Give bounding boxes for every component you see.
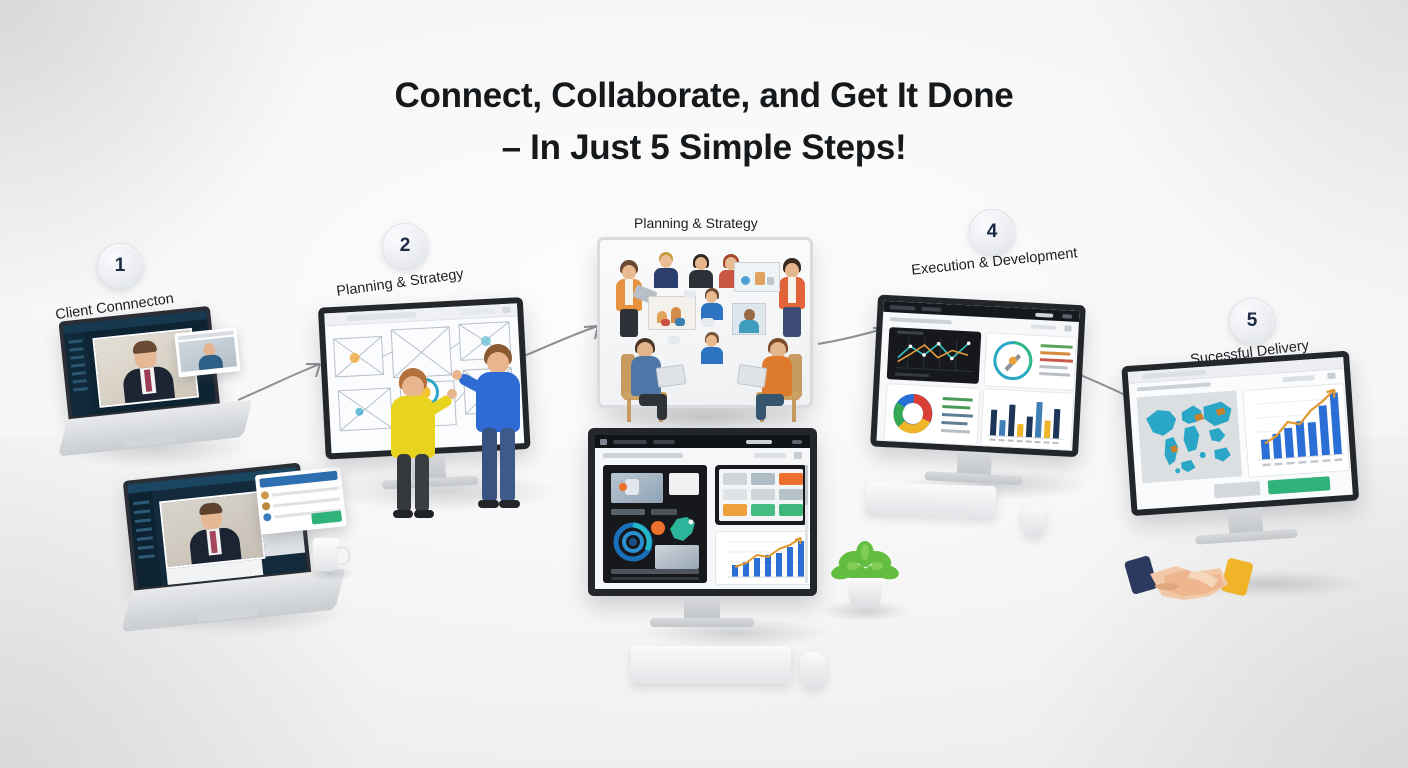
chart-shape — [741, 276, 750, 285]
toolbar-icon[interactable] — [1062, 314, 1072, 319]
view-toggle-icon[interactable] — [1327, 373, 1335, 380]
secondary-action-button[interactable] — [1214, 481, 1261, 498]
monitor-screen — [595, 435, 810, 589]
step-badge-2-number: 2 — [400, 235, 411, 257]
headline-line-1: Connect, Collaborate, and Get It Done — [0, 74, 1408, 118]
execution-trend-chart-card — [887, 327, 982, 384]
person-legs — [657, 400, 667, 420]
step-badge-5-number: 5 — [1247, 310, 1258, 332]
plant-pot — [845, 578, 885, 606]
footer-text — [611, 569, 699, 574]
video-tile-primary — [159, 491, 266, 569]
insight-label-card — [669, 473, 699, 495]
chart-shape — [675, 318, 685, 326]
keyboard-center[interactable] — [631, 646, 791, 684]
filter-control[interactable] — [1282, 375, 1314, 382]
highlight-dot — [651, 521, 665, 535]
avatar-head — [622, 265, 636, 280]
monitor-neck — [684, 596, 720, 620]
browser-menu-icon[interactable] — [502, 307, 510, 313]
person-yellow-shirt — [385, 368, 443, 520]
person-hand — [447, 389, 457, 399]
legend-row — [1041, 344, 1073, 349]
chart-shape — [661, 319, 670, 326]
nav-item[interactable] — [613, 440, 647, 444]
video-call-laptop-top — [50, 302, 258, 457]
view-toggle-icon[interactable] — [1064, 325, 1071, 331]
step-badge-1: 1 — [97, 243, 143, 289]
toolbar-icon[interactable] — [746, 440, 772, 444]
breadcrumb — [1137, 382, 1211, 391]
legend-row — [941, 421, 967, 425]
legend-row — [942, 405, 970, 409]
execution-trend-chart — [887, 327, 982, 384]
chair-leg — [627, 398, 631, 422]
execution-gauge-chart — [987, 334, 1040, 387]
avatar-person-center-top — [700, 288, 724, 320]
thumbnail-strip — [263, 531, 305, 557]
video-tile-secondary — [178, 336, 237, 372]
step-label-3: Planning & Strategy — [634, 215, 758, 231]
legend-row — [943, 397, 973, 402]
delivery-monitor — [1121, 350, 1370, 566]
card-tile[interactable] — [723, 489, 747, 500]
person-shoe — [499, 500, 520, 508]
person-legs — [415, 454, 429, 512]
avatar-shirt — [625, 279, 633, 305]
legend-row — [1040, 351, 1070, 356]
card-tile[interactable] — [723, 504, 747, 516]
monitor-base — [650, 618, 754, 627]
step-badge-2: 2 — [382, 223, 428, 269]
avatar-person-center-bottom — [700, 332, 724, 364]
card-tile[interactable] — [779, 504, 803, 516]
avatar — [262, 502, 271, 511]
reporting-monitor — [588, 428, 824, 628]
speech-bubble-icon — [684, 290, 696, 298]
laptop-trackpad[interactable] — [124, 434, 178, 448]
avatar — [263, 513, 272, 522]
insight-photo-secondary — [655, 545, 699, 569]
tablet-mock — [715, 465, 807, 525]
keyboard-keys[interactable] — [869, 485, 993, 493]
progress-bar[interactable] — [611, 577, 699, 580]
keyboard-keys[interactable] — [635, 650, 787, 655]
mug-handle — [337, 546, 351, 566]
step-badge-5: 5 — [1229, 298, 1275, 344]
avatar-head — [695, 257, 707, 270]
avatar — [261, 491, 270, 500]
primary-action-button[interactable] — [311, 510, 342, 524]
view-toggle-icon[interactable] — [794, 452, 802, 459]
person-head — [487, 352, 509, 374]
monitor-bezel — [1121, 351, 1359, 517]
floating-video-window — [174, 327, 240, 377]
legend-row — [1039, 365, 1067, 369]
avatar-head — [785, 263, 799, 278]
filter-control[interactable] — [754, 453, 786, 458]
card-tile[interactable] — [779, 473, 803, 485]
person-torso — [762, 356, 792, 396]
laptop-prop — [656, 364, 687, 388]
monitor-screen — [1128, 357, 1353, 510]
monitor-base — [924, 471, 1022, 485]
avatar-head — [660, 255, 672, 268]
legend-row — [942, 413, 973, 418]
person-legs — [500, 428, 515, 502]
filter-control[interactable] — [1031, 325, 1057, 330]
execution-bar-card — [980, 388, 1074, 451]
avatar-body — [689, 270, 713, 288]
kpi-value — [611, 509, 645, 515]
keyboard-right[interactable] — [865, 482, 996, 519]
handshake-icon — [1124, 550, 1254, 612]
person-shoe — [393, 510, 413, 518]
board-image-card-right — [734, 262, 780, 292]
map-glyph — [665, 513, 701, 547]
card-tile[interactable] — [751, 473, 775, 485]
legend-row — [941, 429, 970, 434]
avatar-hair — [132, 340, 157, 354]
step-label-2: Planning & Strategy — [336, 266, 465, 300]
person-legs — [397, 454, 411, 512]
execution-gauge-card — [983, 332, 1077, 391]
step-badge-4-number: 4 — [987, 221, 998, 243]
step-badge-4: 4 — [969, 209, 1015, 255]
robot-accent — [619, 483, 627, 491]
monitor-bezel — [588, 428, 817, 596]
delivery-growth-chart — [1243, 384, 1349, 477]
person-torso — [476, 372, 520, 432]
avatar-person-dark-hair — [688, 254, 714, 288]
avatar-person-navy — [652, 252, 680, 288]
card-tile[interactable] — [779, 489, 803, 500]
legend-row — [1039, 372, 1070, 377]
world-map-card — [1137, 391, 1243, 484]
person-seated-blue — [621, 330, 683, 422]
avatar-head — [706, 291, 717, 303]
person-seated-orange — [740, 330, 802, 422]
app-logo-icon — [600, 439, 607, 445]
person-hand — [452, 370, 462, 380]
person-shoe — [414, 510, 434, 518]
monitor-bezel — [870, 295, 1086, 458]
person-legs — [756, 400, 766, 420]
board-image-card-left — [648, 296, 696, 330]
reporting-growth-chart — [716, 532, 810, 584]
toolbar-icon[interactable] — [792, 440, 802, 444]
person-shoe — [478, 500, 499, 508]
scene-canvas: Connect, Collaborate, and Get It Done – … — [0, 0, 1408, 768]
execution-bar-chart — [981, 389, 1073, 450]
execution-donut-card — [883, 383, 980, 446]
mouse-right[interactable] — [1022, 505, 1046, 537]
mouse-center[interactable] — [800, 652, 826, 688]
breadcrumb — [603, 453, 683, 458]
avatar-body — [654, 268, 678, 288]
analytics-monitor — [868, 295, 1093, 496]
avatar-head — [706, 335, 717, 347]
card-tile[interactable] — [751, 504, 775, 516]
page-title: Connect, Collaborate, and Get It Done – … — [0, 74, 1408, 170]
scrollbar-track[interactable] — [805, 465, 808, 583]
world-map — [1137, 391, 1243, 484]
chart-shape — [755, 272, 765, 285]
breadcrumb — [890, 317, 952, 324]
legend-row — [1040, 358, 1073, 363]
nav-item[interactable] — [653, 440, 675, 444]
avatar-body — [701, 347, 723, 364]
delivery-growth-chart-card — [1242, 383, 1350, 478]
card-tile[interactable] — [723, 473, 747, 485]
coffee-mug — [313, 538, 339, 571]
execution-donut-chart — [887, 387, 940, 440]
reporting-growth-chart-card — [715, 531, 810, 585]
card-tile[interactable] — [751, 489, 775, 500]
avatar-person-orange-cardigan — [614, 260, 644, 338]
chart-shape — [767, 277, 774, 285]
scrollbar-thumb[interactable] — [805, 465, 808, 505]
reporting-donut-chart — [609, 519, 657, 565]
monitor-screen — [876, 301, 1079, 451]
avatar-shirt — [788, 277, 796, 303]
primary-action-button[interactable] — [1268, 476, 1331, 494]
tablet-screen — [719, 469, 803, 521]
headline-line-2: – In Just 5 Simple Steps! — [0, 126, 1408, 170]
person-head — [402, 376, 424, 398]
speech-bubble-icon — [701, 318, 714, 327]
person-blue-shirt — [472, 344, 530, 516]
chair-leg — [792, 398, 796, 422]
step-badge-1-number: 1 — [115, 255, 126, 277]
laptop-prop — [737, 364, 768, 388]
avatar-body — [198, 354, 223, 370]
robot-glyph — [625, 479, 639, 495]
person-legs — [482, 428, 497, 502]
dark-insight-panel — [603, 465, 707, 583]
